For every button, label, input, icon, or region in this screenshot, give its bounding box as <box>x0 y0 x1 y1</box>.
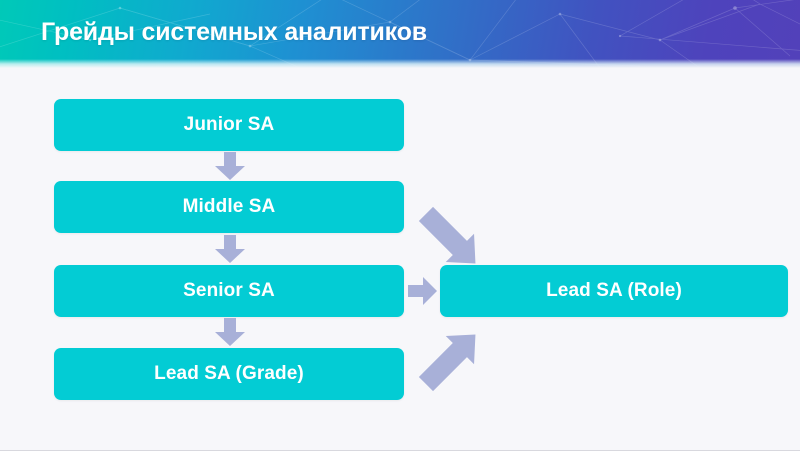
arrow-senior-to-lead-grade-icon <box>212 318 248 347</box>
node-middle-sa-label: Middle SA <box>183 196 276 218</box>
node-lead-sa-grade-label: Lead SA (Grade) <box>154 363 304 385</box>
arrow-middle-to-senior-icon <box>212 235 248 264</box>
slide-canvas: Грейды системных аналитиков Junior SA Mi… <box>0 0 800 451</box>
slide-header-banner: Грейды системных аналитиков <box>0 0 800 68</box>
node-senior-sa-label: Senior SA <box>183 280 275 302</box>
arrow-middle-to-lead-role-icon <box>408 196 492 280</box>
node-middle-sa[interactable]: Middle SA <box>54 181 404 233</box>
node-junior-sa[interactable]: Junior SA <box>54 99 404 151</box>
node-senior-sa[interactable]: Senior SA <box>54 265 404 317</box>
node-lead-sa-role[interactable]: Lead SA (Role) <box>440 265 788 317</box>
arrow-lead-grade-to-lead-role-icon <box>408 318 492 402</box>
node-lead-sa-grade[interactable]: Lead SA (Grade) <box>54 348 404 400</box>
node-lead-sa-role-label: Lead SA (Role) <box>546 280 682 302</box>
page-title: Грейды системных аналитиков <box>41 18 427 47</box>
arrow-junior-to-middle-icon <box>212 152 248 181</box>
node-junior-sa-label: Junior SA <box>184 114 275 136</box>
